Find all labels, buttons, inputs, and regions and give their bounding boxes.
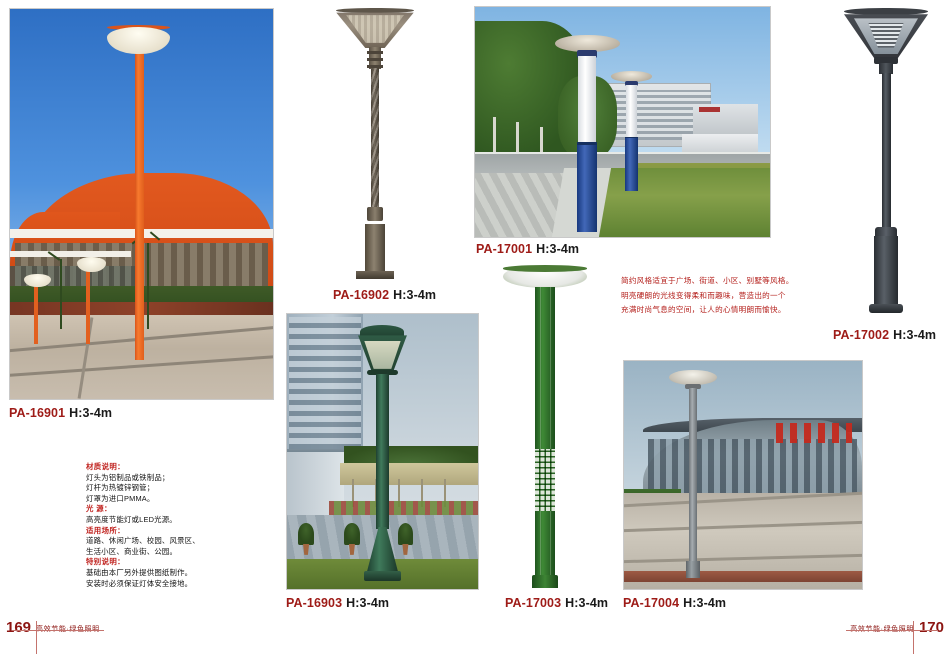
footer-divider — [36, 621, 37, 654]
product-code: PA-16901 — [9, 406, 65, 420]
lamp-neck-ring — [367, 51, 383, 54]
pole-flared-base — [367, 527, 399, 574]
footer-left: 169 高效节能·绿色照明 — [6, 620, 105, 642]
pole-twist-texture — [371, 68, 378, 207]
product-photo-pa-17004 — [623, 360, 863, 590]
caption-pa-16903: PA-16903H:3-4m — [286, 596, 389, 610]
footer-divider — [913, 621, 914, 654]
caption-pa-17003: PA-17003H:3-4m — [505, 596, 608, 610]
lamp-head-rim — [503, 265, 587, 272]
pole-upper-white-section — [626, 85, 638, 139]
spec-line: 灯罩为进口PMMA。 — [86, 494, 266, 505]
pole-upper-white-section — [578, 56, 596, 145]
product-height: H:3-4m — [683, 596, 726, 610]
page-number-right: 170 — [919, 620, 944, 635]
pole-square-column — [535, 287, 554, 585]
pole-base — [686, 561, 699, 578]
pole-base — [874, 236, 898, 305]
spec-line: 基础由本厂另外提供图纸制作。 — [86, 568, 266, 579]
product-code: PA-17004 — [623, 596, 679, 610]
product-code: PA-17001 — [476, 242, 532, 256]
column-edge-highlight — [540, 287, 541, 585]
spec-heading-material: 材质说明： — [86, 462, 266, 473]
lantern-top-rim — [844, 8, 928, 15]
page-number-left: 169 — [6, 620, 31, 635]
product-height: H:3-4m — [536, 242, 579, 256]
lamp-pole-pa-17004 — [669, 370, 717, 580]
office-tower-windows — [289, 317, 362, 460]
background-pole-2 — [86, 266, 90, 344]
spec-heading-applications: 适用场所： — [86, 526, 266, 537]
red-paving-band — [624, 571, 862, 582]
product-photo-pa-17003 — [497, 262, 593, 590]
blurb-line: 充满时尚气息的空间，让人的心情明朗而愉快。 — [621, 303, 826, 318]
pole-lower-blue-section — [625, 138, 637, 191]
product-photo-pa-16901 — [9, 8, 274, 400]
lamp-pole-cutout-pa-16902 — [330, 4, 420, 282]
potted-plant — [298, 523, 313, 545]
pole-shaft — [689, 388, 698, 562]
lamp-pole-pa-16903 — [352, 325, 413, 584]
column-window-panel — [535, 449, 554, 511]
pole-lower-blue-section — [577, 145, 596, 232]
product-height: H:3-4m — [393, 288, 436, 302]
product-code: PA-17003 — [505, 596, 561, 610]
blurb-line: 简约风格适宜于广场、街道、小区、别墅等风格。 — [621, 274, 826, 289]
product-photo-pa-16902 — [330, 4, 420, 282]
spec-line: 安装时必须保证灯体安全接地。 — [86, 579, 266, 590]
pole-shaft — [882, 73, 891, 229]
spec-line: 生活小区、商业街、公园。 — [86, 547, 266, 558]
pole-foot-plate — [869, 304, 903, 314]
pole-base — [365, 224, 385, 271]
lamp-head-disc — [669, 370, 717, 385]
product-code: PA-17002 — [833, 328, 889, 342]
caption-pa-16901: PA-16901H:3-4m — [9, 406, 112, 420]
spec-line: 灯杆为热镀锌钢管； — [86, 483, 266, 494]
column-edge-highlight — [550, 287, 551, 585]
background-pole-3 — [34, 282, 38, 344]
pole-base-collar — [875, 227, 897, 236]
marketing-blurb: 简约风格适宜于广场、街道、小区、别墅等风格。 明亮硬朗的光线变得柔和而趣味，营造… — [621, 274, 826, 318]
product-height: H:3-4m — [69, 406, 112, 420]
lamp-neck-ring — [367, 58, 383, 61]
bare-tree-trunk — [60, 259, 62, 329]
footer-rule — [12, 630, 104, 631]
footer-right: 高效节能·绿色照明 170 — [845, 620, 944, 642]
product-photo-pa-17001 — [474, 6, 771, 238]
spec-heading-notes: 特别说明： — [86, 557, 266, 568]
product-photo-pa-16903 — [286, 313, 479, 590]
product-height: H:3-4m — [346, 596, 389, 610]
spec-line: 道路、休闲广场、校园、风景区、 — [86, 536, 266, 547]
product-photo-pa-17002 — [836, 4, 936, 316]
caption-pa-17004: PA-17004H:3-4m — [623, 596, 726, 610]
product-height: H:3-4m — [893, 328, 936, 342]
pole-base-collar — [367, 207, 383, 221]
building-white-stripe-lower — [10, 251, 131, 257]
pole-base — [532, 575, 559, 588]
product-code: PA-16903 — [286, 596, 342, 610]
catalog-page: PA-16901H:3-4m PA-16902H:3-4m — [0, 0, 950, 654]
product-height: H:3-4m — [565, 596, 608, 610]
spec-line: 灯头为铝制品或铁制品； — [86, 473, 266, 484]
lamp-shade-rim — [336, 8, 413, 14]
specification-block: 材质说明： 灯头为铝制品或铁制品； 灯杆为热镀锌钢管； 灯罩为进口PMMA。 光… — [86, 462, 266, 589]
blurb-line: 明亮硬朗的光线变得柔和而趣味，营造出的一个 — [621, 289, 826, 304]
caption-pa-17002: PA-17002H:3-4m — [833, 328, 936, 342]
lamp-pole-pa-17001-back — [611, 71, 652, 191]
footer-rule — [846, 630, 938, 631]
pole-shaft — [376, 374, 388, 529]
spec-heading-light-source: 光 源： — [86, 504, 266, 515]
pole-foot-plate — [364, 571, 401, 581]
caption-pa-16902: PA-16902H:3-4m — [333, 288, 436, 302]
bare-tree-trunk — [147, 243, 149, 329]
pole-foot-plate — [356, 271, 394, 279]
building-red-characters — [776, 423, 852, 444]
lamp-pole-pa-16901 — [135, 48, 144, 360]
red-signage — [699, 107, 720, 112]
spec-line: 高亮度节能灯或LED光源。 — [86, 515, 266, 526]
caption-pa-17001: PA-17001H:3-4m — [476, 242, 579, 256]
product-code: PA-16902 — [333, 288, 389, 302]
